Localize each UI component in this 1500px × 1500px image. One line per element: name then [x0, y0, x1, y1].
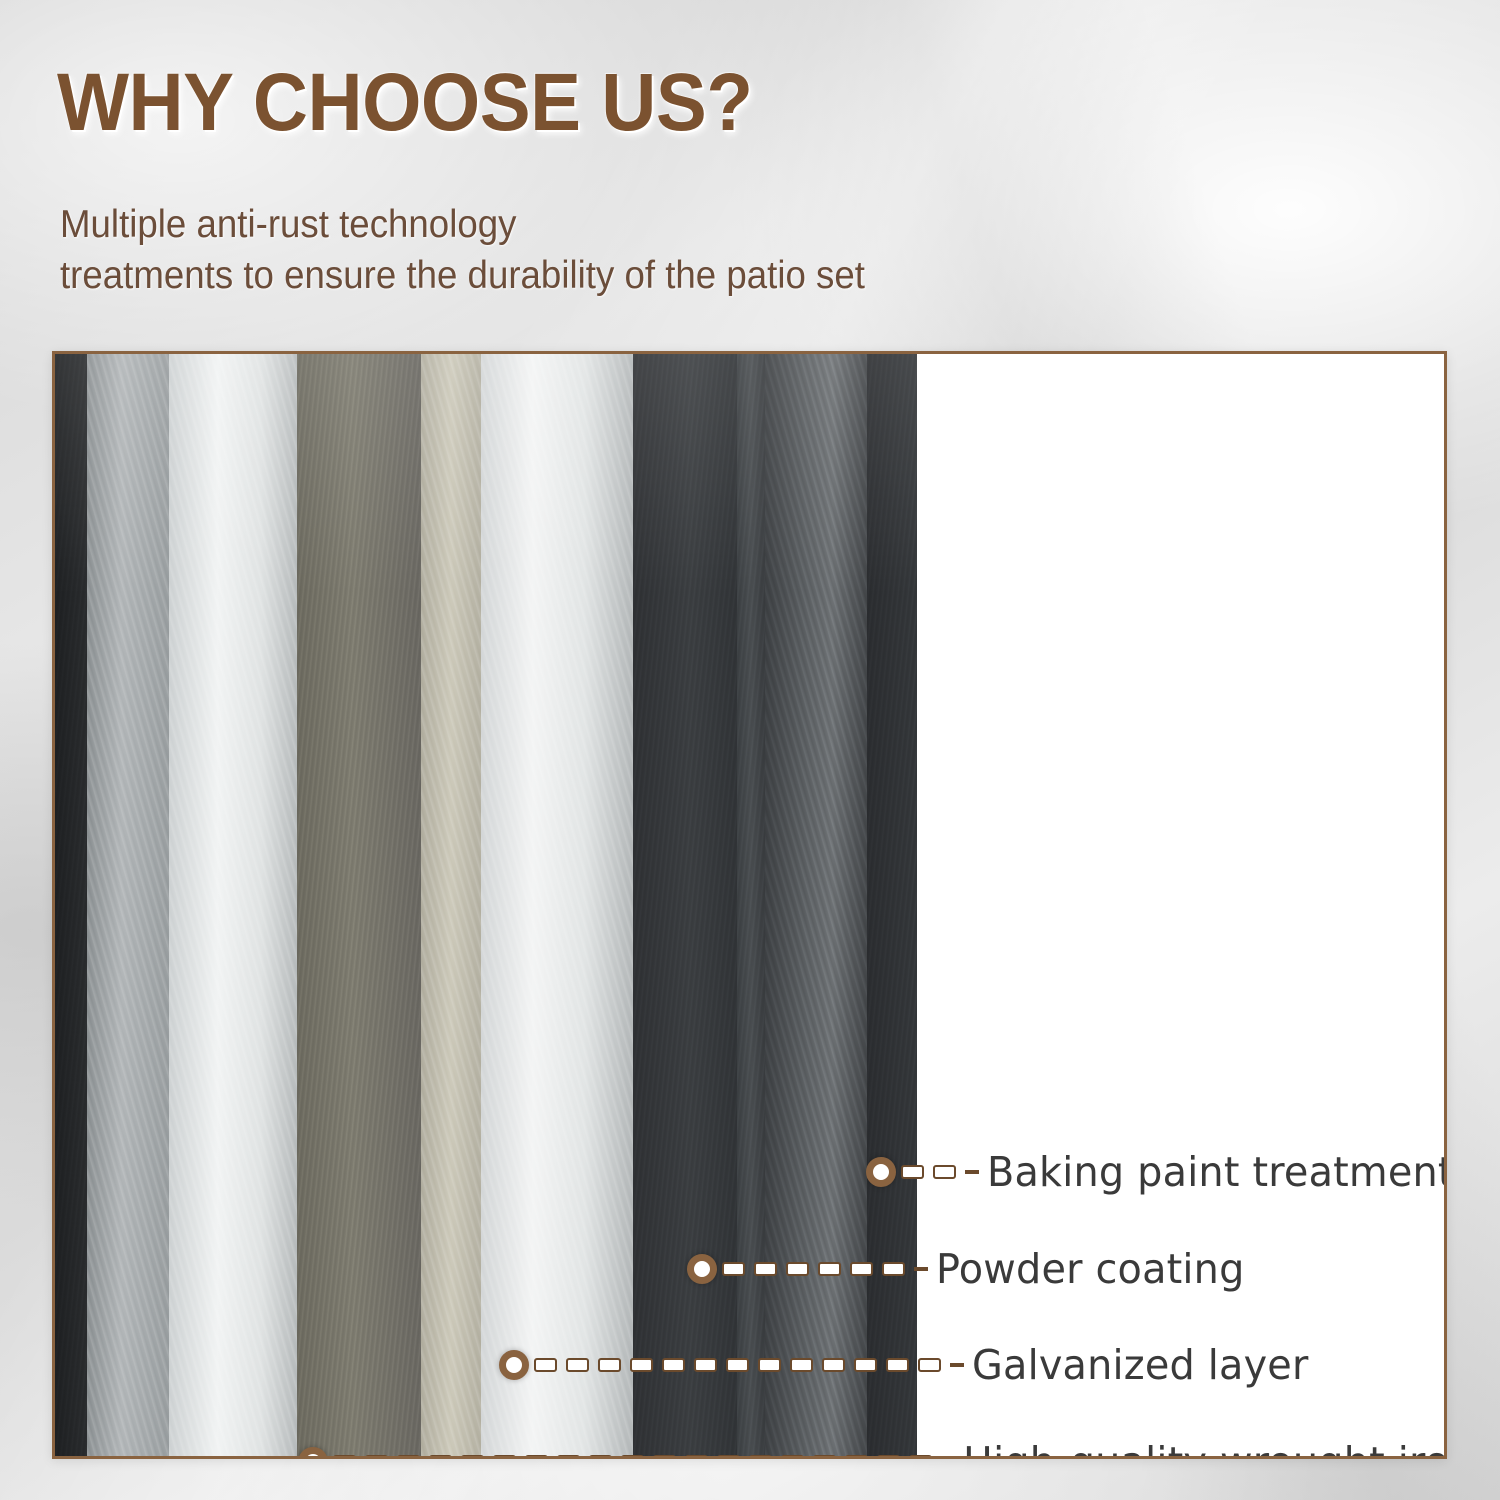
callout-baking-paint[interactable]: Baking paint treatment — [866, 1145, 1444, 1199]
callout-wrought-iron[interactable]: High-quality wrought iron — [298, 1435, 1444, 1456]
product-photo: Baking paint treatment Powder coating — [55, 354, 1444, 1456]
column-beige-edge — [421, 354, 481, 1456]
callout-marker-icon — [499, 1350, 529, 1380]
column-silver-face-2 — [481, 354, 633, 1456]
callout-powder-coating[interactable]: Powder coating — [687, 1242, 1254, 1296]
column-silver-edge-1 — [87, 354, 169, 1456]
callout-leader-line — [722, 1262, 928, 1276]
callout-leader-line — [333, 1455, 955, 1456]
callout-leader-line — [901, 1165, 979, 1179]
callout-galvanized-layer[interactable]: Galvanized layer — [499, 1338, 1319, 1392]
infographic-canvas: WHY CHOOSE US? Multiple anti-rust techno… — [0, 0, 1500, 1500]
callout-marker-icon — [298, 1447, 328, 1456]
page-title: WHY CHOOSE US? — [57, 62, 752, 144]
column-khaki-dark — [297, 354, 421, 1456]
callout-marker-icon — [687, 1254, 717, 1284]
callout-label-baking-paint: Baking paint treatment — [987, 1148, 1444, 1196]
callout-label-wrought-iron: High-quality wrought iron — [963, 1438, 1444, 1456]
callout-label-galvanized-layer: Galvanized layer — [972, 1341, 1309, 1389]
callout-marker-icon — [866, 1157, 896, 1187]
page-subtitle: Multiple anti-rust technology treatments… — [60, 200, 865, 301]
callout-leader-line — [534, 1358, 964, 1372]
column-silver-face-1 — [169, 354, 297, 1456]
product-photo-frame: Baking paint treatment Powder coating — [52, 351, 1447, 1459]
callout-label-powder-coating: Powder coating — [936, 1245, 1245, 1293]
column-core-dark-left — [55, 354, 87, 1456]
